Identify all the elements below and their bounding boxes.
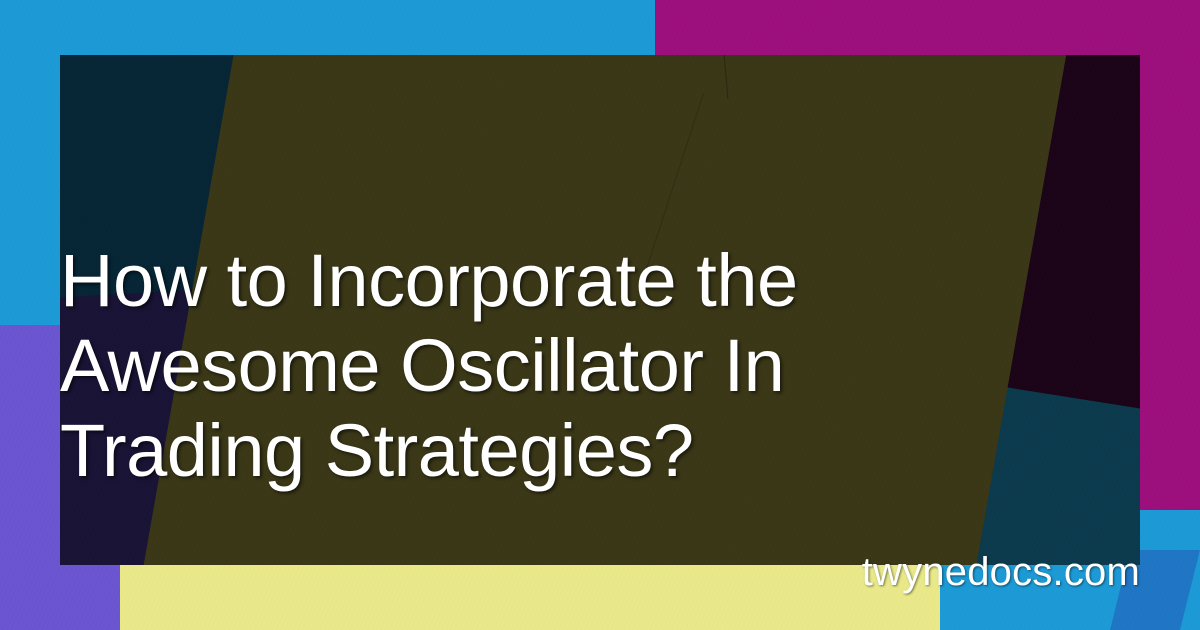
page-title: How to Incorporate the Awesome Oscillato… [60, 238, 1020, 493]
site-watermark: twynedocs.com [862, 550, 1140, 594]
social-share-card: How to Incorporate the Awesome Oscillato… [0, 0, 1200, 630]
olive-seam-line-top [717, 55, 728, 99]
